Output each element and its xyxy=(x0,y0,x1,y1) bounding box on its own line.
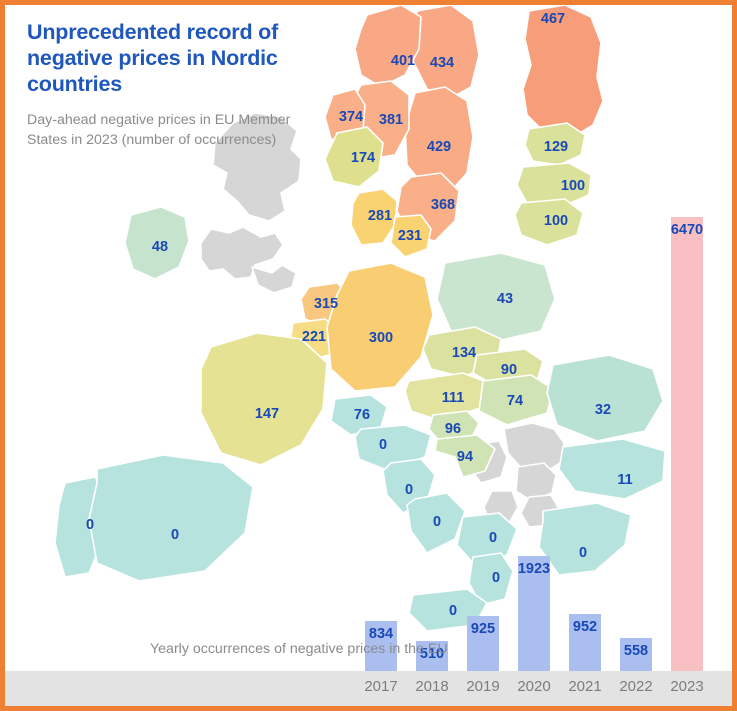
x-tick-2020: 2020 xyxy=(509,678,559,695)
map-value-label: 300 xyxy=(369,330,393,346)
map-value-label: 368 xyxy=(431,197,455,213)
bar-value-label: 558 xyxy=(624,643,648,659)
map-value-label: 111 xyxy=(442,390,465,406)
map-value-label: 96 xyxy=(445,421,461,437)
x-axis-strip: 2017201820192020202120222023 xyxy=(5,671,732,706)
bar-chart-caption: Yearly occurrences of negative prices in… xyxy=(150,639,448,660)
region-germany xyxy=(327,263,433,391)
map-value-label: 74 xyxy=(507,393,523,409)
x-tick-2017: 2017 xyxy=(356,678,406,695)
map-value-label: 0 xyxy=(171,527,179,543)
map-value-label: 429 xyxy=(427,139,451,155)
bar-2019[interactable]: 925 xyxy=(467,616,499,671)
region-romania xyxy=(547,355,663,441)
region-france xyxy=(201,333,327,465)
bar-2023[interactable]: 6470 xyxy=(671,217,703,671)
map-value-label: 231 xyxy=(398,228,422,244)
bar-2022[interactable]: 558 xyxy=(620,638,652,671)
x-tick-2022: 2022 xyxy=(611,678,661,695)
map-value-label: 174 xyxy=(351,150,375,166)
bar-value-label: 1923 xyxy=(518,561,550,577)
map-value-label: 0 xyxy=(433,514,441,530)
headline-block: Unprecedented record of negative prices … xyxy=(27,19,327,150)
map-value-label: 467 xyxy=(541,11,565,27)
map-value-label: 0 xyxy=(86,517,94,533)
map-value-label: 221 xyxy=(302,329,326,345)
bar-value-label: 952 xyxy=(573,619,597,635)
map-value-label: 401 xyxy=(391,53,415,69)
map-value-label: 0 xyxy=(405,482,413,498)
map-value-label: 374 xyxy=(339,109,363,125)
region-norway-no4 xyxy=(355,5,421,87)
map-value-label: 11 xyxy=(617,472,632,488)
page-title: Unprecedented record of negative prices … xyxy=(27,19,327,98)
map-value-label: 48 xyxy=(152,239,168,255)
map-value-label: 100 xyxy=(561,178,585,194)
map-value-label: 43 xyxy=(497,291,513,307)
x-tick-2018: 2018 xyxy=(407,678,457,695)
map-value-label: 94 xyxy=(457,449,473,465)
region-bulgaria xyxy=(559,439,665,499)
map-value-label: 134 xyxy=(452,345,476,361)
yearly-occurrences-bar-chart: 83451092519239525586470 2017201820192020… xyxy=(5,546,732,706)
map-value-label: 76 xyxy=(354,407,370,423)
bar-value-label: 925 xyxy=(471,621,495,637)
map-value-label: 0 xyxy=(379,437,387,453)
bar-value-label: 6470 xyxy=(671,222,703,238)
map-value-label: 32 xyxy=(595,402,611,418)
map-value-label: 434 xyxy=(430,55,454,71)
x-tick-2019: 2019 xyxy=(458,678,508,695)
bar-2020[interactable]: 1923 xyxy=(518,556,550,671)
x-tick-2021: 2021 xyxy=(560,678,610,695)
x-tick-2023: 2023 xyxy=(662,678,712,695)
map-value-label: 100 xyxy=(544,213,568,229)
bar-2021[interactable]: 952 xyxy=(569,614,601,671)
map-value-label: 281 xyxy=(368,208,392,224)
map-value-label: 90 xyxy=(501,362,517,378)
map-value-label: 129 xyxy=(544,139,568,155)
region-sweden-se1 xyxy=(413,5,479,99)
map-value-label: 315 xyxy=(314,296,338,312)
map-value-label: 147 xyxy=(255,406,279,422)
map-value-label: 381 xyxy=(379,112,403,128)
infographic-frame: 4674344013813744291743682812311291001004… xyxy=(0,0,737,711)
page-subtitle: Day-ahead negative prices in EU Member S… xyxy=(27,110,327,151)
map-value-label: 0 xyxy=(489,530,497,546)
